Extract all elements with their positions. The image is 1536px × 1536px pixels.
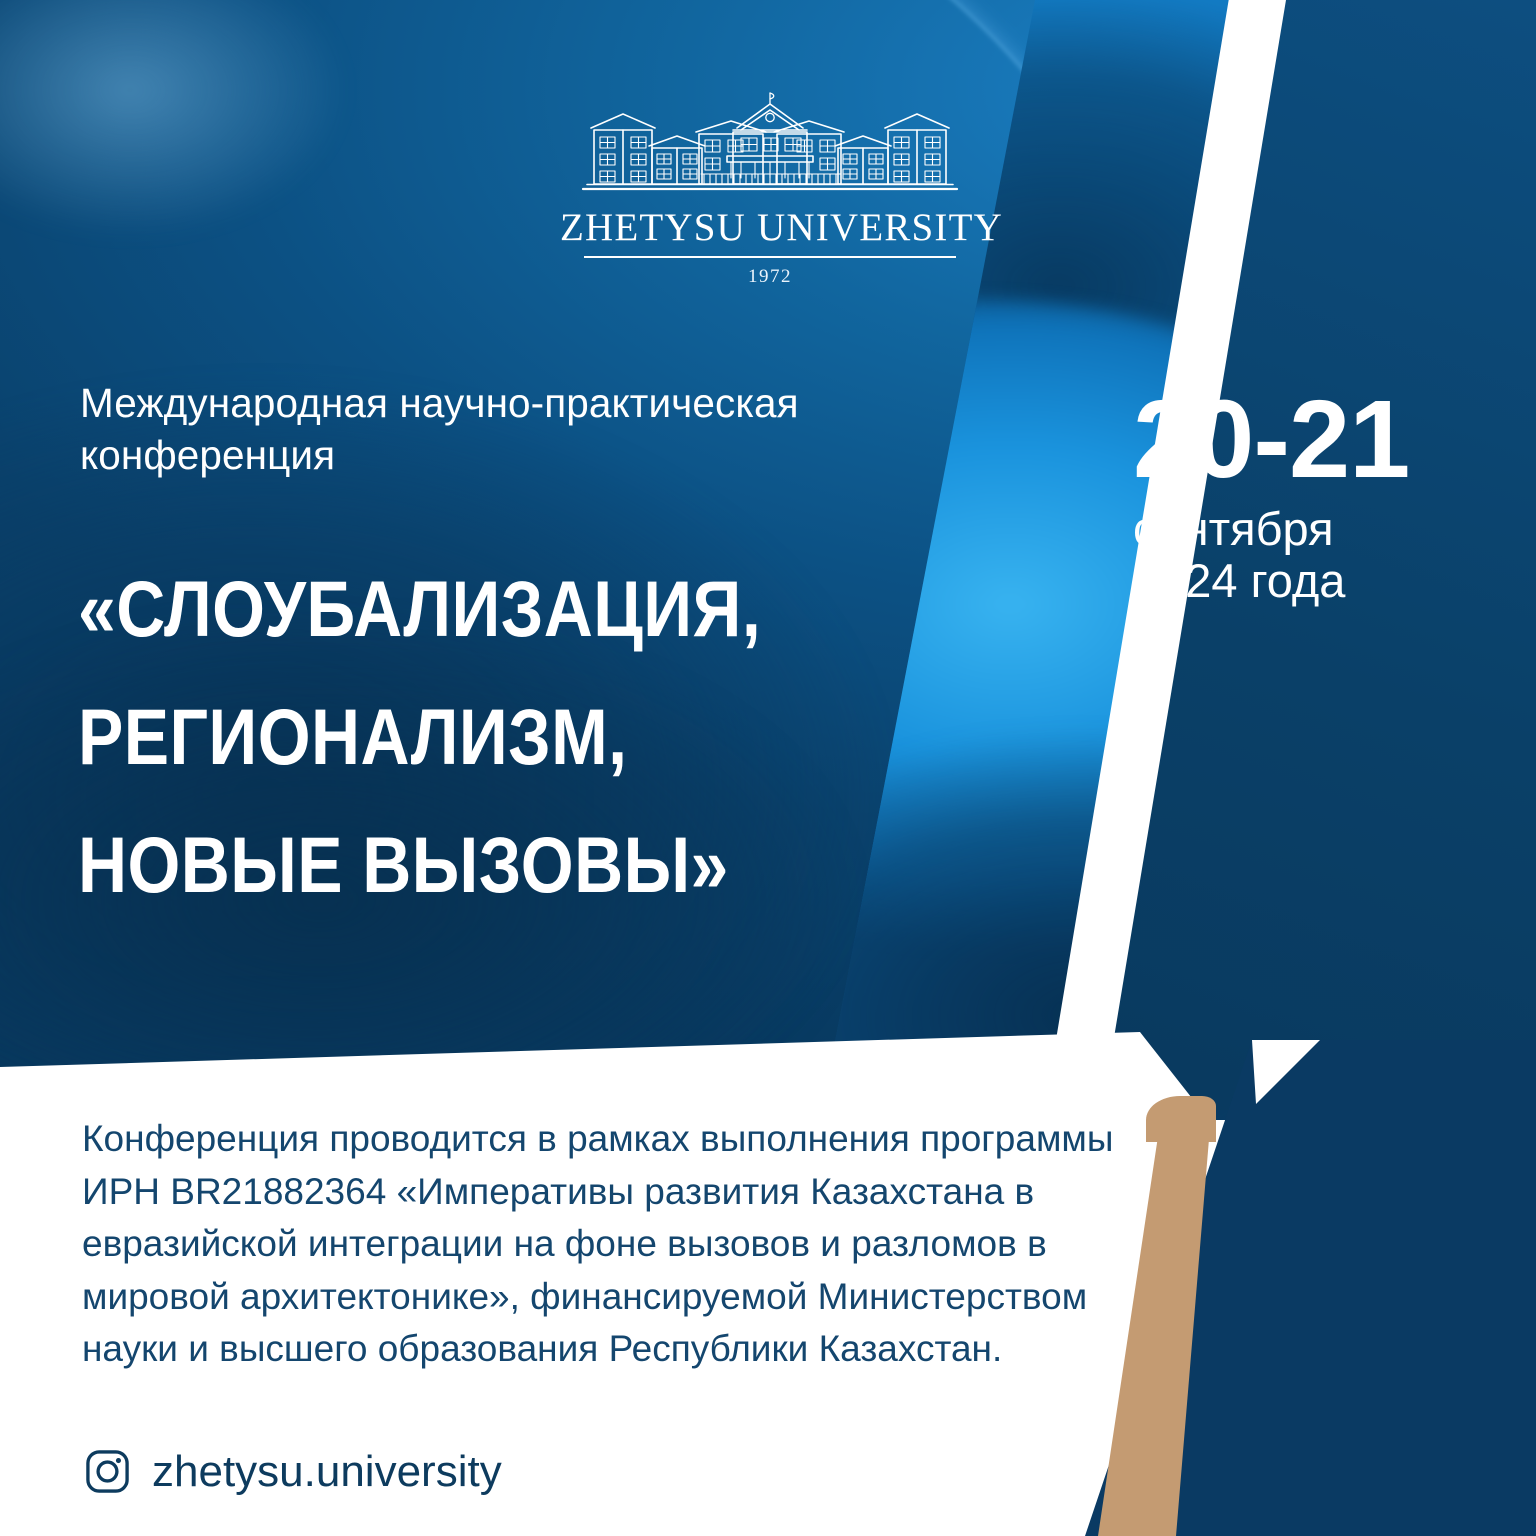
date-month: сентября [1133, 503, 1409, 556]
conference-poster: ZHETYSU UNIVERSITY 1972 Международная на… [0, 0, 1536, 1536]
instagram-icon [84, 1448, 131, 1495]
instagram-link[interactable]: zhetysu.university [84, 1448, 502, 1495]
university-building-icon [560, 90, 980, 196]
funding-description: Конференция проводится в рамках выполнен… [82, 1113, 1192, 1376]
background-glow [0, 0, 440, 300]
conference-subtitle: Международная научно-практическая конфер… [80, 378, 1060, 482]
conference-date-block: 20-21 сентября 2024 года [1133, 392, 1409, 608]
date-days: 20-21 [1133, 392, 1409, 489]
date-year: 2024 года [1133, 555, 1409, 608]
conference-title: «СЛОУБАЛИЗАЦИЯ, РЕГИОНАЛИЗМ, НОВЫЕ ВЫЗОВ… [78, 545, 852, 929]
instagram-handle: zhetysu.university [152, 1450, 502, 1494]
logo-university-name: ZHETYSU UNIVERSITY [560, 208, 980, 247]
university-logo: ZHETYSU UNIVERSITY 1972 [560, 90, 980, 288]
logo-divider-rule [584, 256, 956, 258]
logo-founding-year: 1972 [560, 266, 980, 288]
